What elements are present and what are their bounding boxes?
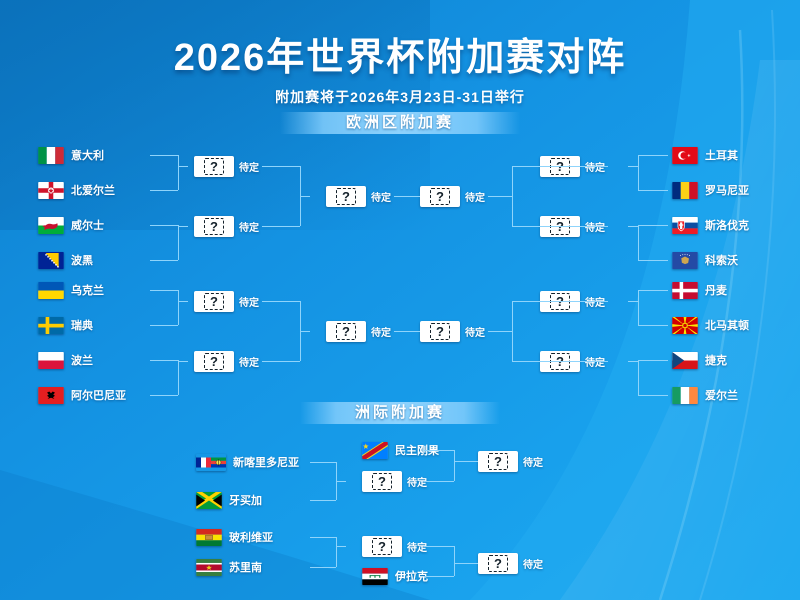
bracket-connector [300, 331, 310, 332]
flag-northern-ireland [38, 182, 64, 199]
tbd-slot[interactable]: ?待定 [420, 320, 485, 342]
tbd-slot[interactable]: ?待定 [326, 185, 391, 207]
bracket-connector [394, 331, 420, 332]
team-name: 新喀里多尼亚 [233, 454, 299, 470]
tbd-label: 待定 [239, 159, 259, 174]
team-row[interactable]: 瑞典 [38, 315, 93, 335]
team-name: 北马其顿 [705, 317, 749, 333]
bracket-connector [638, 260, 668, 261]
bracket-connector [178, 290, 179, 325]
page-subtitle: 附加赛将于2026年3月23日-31日举行 [0, 87, 800, 107]
tbd-label: 待定 [465, 324, 485, 339]
question-mark-box: ? [194, 156, 234, 177]
bracket-connector [336, 481, 346, 482]
question-icon: ? [336, 188, 356, 205]
question-icon: ? [372, 538, 392, 555]
team-name: 斯洛伐克 [705, 217, 749, 233]
bracket-connector [262, 226, 300, 227]
tbd-label: 待定 [465, 189, 485, 204]
tbd-label: 待定 [523, 556, 543, 571]
tbd-slot[interactable]: ?待定 [194, 215, 259, 237]
team-row[interactable]: 意大利 [38, 145, 104, 165]
bracket-connector [512, 226, 608, 227]
bracket-connector [262, 301, 300, 302]
bracket-connector [638, 290, 639, 325]
team-row[interactable]: 捷克 [672, 350, 727, 370]
flag-bolivia [196, 529, 222, 546]
bracket-connector [512, 301, 513, 361]
bracket-connector [638, 290, 668, 291]
tbd-label: 待定 [239, 219, 259, 234]
bracket-connector [628, 166, 638, 167]
flag-jamaica [196, 492, 222, 509]
bracket-connector [454, 563, 478, 564]
bracket-connector [178, 301, 188, 302]
flag-iraq [362, 568, 388, 585]
team-row[interactable]: 乌克兰 [38, 280, 104, 300]
bracket-connector [336, 537, 337, 567]
flag-ukraine [38, 282, 64, 299]
flag-wales [38, 217, 64, 234]
bracket-connector [488, 331, 512, 332]
tbd-slot[interactable]: ?待定 [362, 535, 427, 557]
team-name: 阿尔巴尼亚 [71, 387, 126, 403]
question-mark-box: ? [362, 536, 402, 557]
tbd-slot[interactable]: ?待定 [326, 320, 391, 342]
team-row[interactable]: 牙买加 [196, 490, 262, 510]
question-icon: ? [488, 453, 508, 470]
bracket-connector [150, 225, 178, 226]
team-row[interactable]: 北爱尔兰 [38, 180, 115, 200]
tbd-label: 待定 [371, 324, 391, 339]
bracket-connector [150, 360, 178, 361]
flag-poland [38, 352, 64, 369]
question-icon: ? [430, 323, 450, 340]
flag-albania [38, 387, 64, 404]
bracket-connector [512, 301, 608, 302]
bracket-connector [628, 226, 638, 227]
bracket-connector [178, 225, 179, 260]
team-row[interactable]: 阿尔巴尼亚 [38, 385, 126, 405]
bracket-connector [512, 361, 608, 362]
question-mark-box: ? [420, 321, 460, 342]
flag-dr-congo [362, 442, 388, 459]
bracket-connector [336, 546, 346, 547]
team-row[interactable]: 丹麦 [672, 280, 727, 300]
question-icon: ? [336, 323, 356, 340]
bracket-connector [512, 166, 513, 226]
tbd-label: 待定 [239, 294, 259, 309]
tbd-slot[interactable]: ?待定 [478, 450, 543, 472]
team-name: 牙买加 [229, 492, 262, 508]
bracket-connector [638, 395, 668, 396]
bracket-connector [310, 500, 336, 501]
bracket-connector [454, 450, 455, 481]
question-icon: ? [430, 188, 450, 205]
section-header-europe: 欧洲区附加赛 [280, 112, 520, 134]
team-row[interactable]: 土耳其 [672, 145, 738, 165]
question-icon: ? [204, 218, 224, 235]
question-mark-box: ? [362, 471, 402, 492]
team-name: 科索沃 [705, 252, 738, 268]
tbd-slot[interactable]: ?待定 [362, 470, 427, 492]
flag-ireland [672, 387, 698, 404]
bracket-connector [638, 325, 668, 326]
bracket-connector [310, 462, 336, 463]
bracket-connector [310, 567, 336, 568]
flag-suriname [196, 559, 222, 576]
bracket-connector [638, 155, 639, 190]
flag-new-caledonia [196, 454, 226, 471]
question-mark-box: ? [478, 553, 518, 574]
team-name: 瑞典 [71, 317, 93, 333]
bracket-connector [454, 546, 455, 576]
team-name: 丹麦 [705, 282, 727, 298]
bracket-connector [262, 361, 300, 362]
team-row[interactable]: 威尔士 [38, 215, 104, 235]
bracket-connector [512, 166, 608, 167]
question-icon: ? [372, 473, 392, 490]
bracket-connector [150, 155, 178, 156]
team-row[interactable]: 爱尔兰 [672, 385, 738, 405]
team-row[interactable]: 苏里南 [196, 557, 262, 577]
bracket-connector [628, 301, 638, 302]
bracket-connector [424, 450, 454, 451]
page-title-block: 2026年世界杯附加赛对阵 附加赛将于2026年3月23日-31日举行 [0, 26, 800, 107]
team-name: 波兰 [71, 352, 93, 368]
flag-czech [672, 352, 698, 369]
question-icon: ? [204, 293, 224, 310]
bracket-connector [150, 325, 178, 326]
bracket-connector [638, 225, 639, 260]
question-icon: ? [204, 158, 224, 175]
tbd-slot[interactable]: ?待定 [194, 155, 259, 177]
flag-bosnia [38, 252, 64, 269]
bracket-connector [300, 196, 310, 197]
bracket-connector [178, 155, 179, 190]
bracket-connector [178, 226, 188, 227]
question-icon: ? [488, 555, 508, 572]
bracket-connector [454, 461, 478, 462]
bracket-connector [178, 361, 188, 362]
tbd-label: 待定 [239, 354, 259, 369]
team-row[interactable]: 伊拉克 [362, 566, 428, 586]
bracket-connector [638, 190, 668, 191]
question-mark-box: ? [478, 451, 518, 472]
section-header-intercontinental: 洲际附加赛 [300, 402, 500, 424]
question-mark-box: ? [194, 216, 234, 237]
team-name: 玻利维亚 [229, 529, 273, 545]
flag-kosovo [672, 252, 698, 269]
bracket-connector [638, 360, 639, 395]
bracket-connector [150, 290, 178, 291]
team-name: 波黑 [71, 252, 93, 268]
question-mark-box: ? [420, 186, 460, 207]
flag-north-macedonia [672, 317, 698, 334]
team-name: 爱尔兰 [705, 387, 738, 403]
team-name: 土耳其 [705, 147, 738, 163]
team-row[interactable]: 波兰 [38, 350, 93, 370]
tbd-label: 待定 [371, 189, 391, 204]
question-mark-box: ? [194, 351, 234, 372]
team-name: 北爱尔兰 [71, 182, 115, 198]
page-title: 2026年世界杯附加赛对阵 [0, 26, 800, 81]
flag-denmark [672, 282, 698, 299]
team-row[interactable]: 斯洛伐克 [672, 215, 749, 235]
flag-romania [672, 182, 698, 199]
team-row[interactable]: 科索沃 [672, 250, 738, 270]
bracket-connector [150, 395, 178, 396]
flag-sweden [38, 317, 64, 334]
team-name: 乌克兰 [71, 282, 104, 298]
team-row[interactable]: 罗马尼亚 [672, 180, 749, 200]
bracket-connector [638, 155, 668, 156]
question-mark-box: ? [326, 186, 366, 207]
bracket-connector [150, 260, 178, 261]
question-icon: ? [204, 353, 224, 370]
team-row[interactable]: 北马其顿 [672, 315, 749, 335]
question-mark-box: ? [326, 321, 366, 342]
bracket-connector [628, 361, 638, 362]
question-mark-box: ? [194, 291, 234, 312]
team-name: 意大利 [71, 147, 104, 163]
team-row[interactable]: 新喀里多尼亚 [196, 452, 299, 472]
flag-turkey [672, 147, 698, 164]
bracket-connector [424, 481, 454, 482]
team-name: 苏里南 [229, 559, 262, 575]
team-name: 罗马尼亚 [705, 182, 749, 198]
flag-italy [38, 147, 64, 164]
bracket-connector [150, 190, 178, 191]
team-name: 捷克 [705, 352, 727, 368]
bracket-connector [262, 166, 300, 167]
bracket-connector [310, 537, 336, 538]
tbd-slot[interactable]: ?待定 [194, 350, 259, 372]
team-name: 威尔士 [71, 217, 104, 233]
tbd-slot[interactable]: ?待定 [420, 185, 485, 207]
bracket-connector [424, 546, 454, 547]
tbd-slot[interactable]: ?待定 [478, 552, 543, 574]
bracket-connector [424, 576, 454, 577]
bracket-connector [178, 360, 179, 395]
tbd-slot[interactable]: ?待定 [194, 290, 259, 312]
team-row[interactable]: 波黑 [38, 250, 93, 270]
flag-slovakia [672, 217, 698, 234]
bracket-connector [638, 225, 668, 226]
team-row[interactable]: 玻利维亚 [196, 527, 273, 547]
bracket-connector [638, 360, 668, 361]
bracket-connector [488, 196, 512, 197]
tbd-label: 待定 [523, 454, 543, 469]
bracket-connector [394, 196, 420, 197]
bracket-connector [178, 166, 188, 167]
